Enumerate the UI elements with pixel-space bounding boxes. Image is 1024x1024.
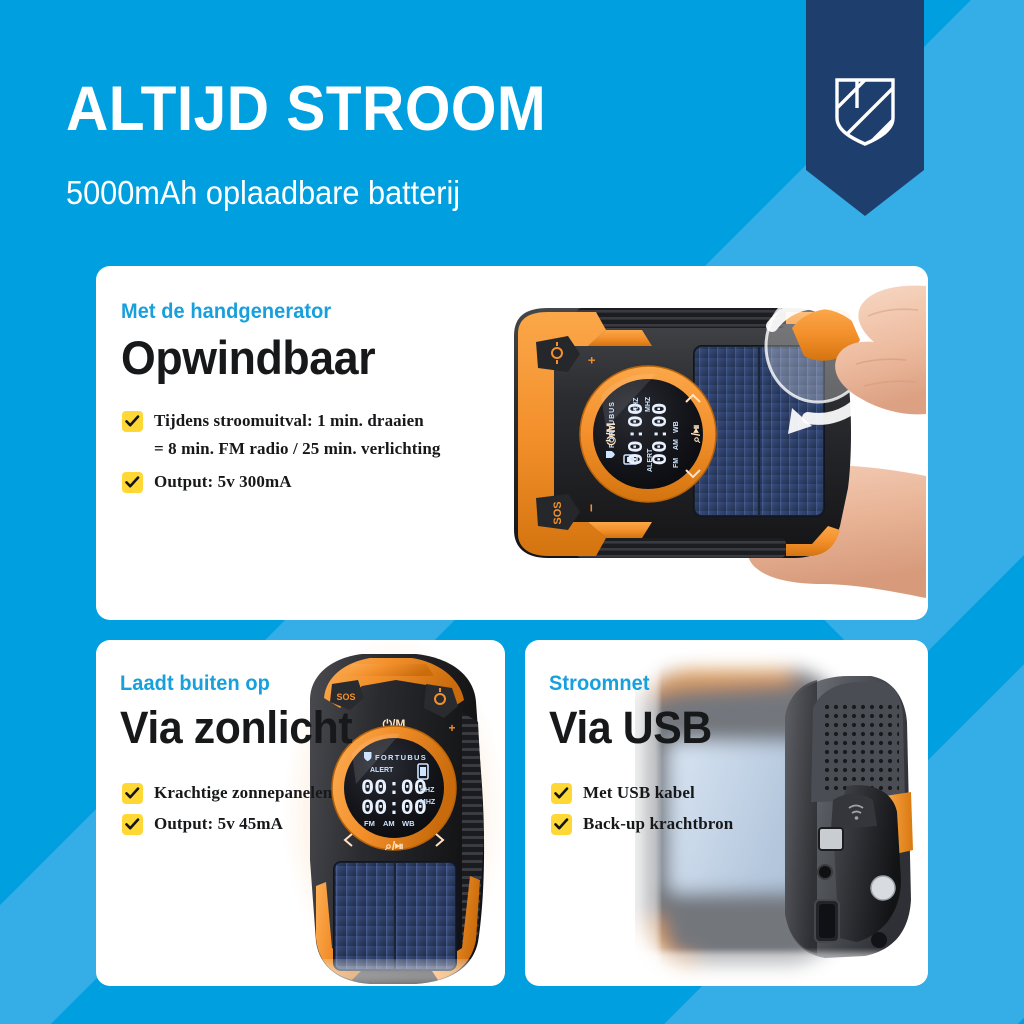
- page-subtitle: 5000mAh oplaadbare batterij: [66, 176, 460, 209]
- lcd-unit-khz: KHZ: [420, 787, 435, 794]
- list-item-label: Krachtige zonnepanelen: [154, 782, 332, 804]
- page-title: ALTIJD STROOM: [66, 78, 546, 141]
- svg-text:−: −: [583, 504, 599, 512]
- lcd-band-wb: WB: [673, 421, 680, 433]
- led-lamp: [871, 876, 895, 900]
- list-item: Tijdens stroomuitval: 1 min. draaien = 8…: [122, 410, 482, 461]
- card-headline: Via USB: [549, 705, 712, 750]
- product-image-crank-radio: SOS + − ⏻/M ⌕/⏯: [456, 268, 926, 620]
- list-item: Output: 5v 300mA: [122, 471, 482, 493]
- list-item: Back-up krachtbron: [551, 813, 831, 835]
- feature-list: Krachtige zonnepanelen Output: 5v 45mA: [122, 782, 422, 845]
- list-item-label: Back-up krachtbron: [583, 813, 733, 835]
- list-item-label: Output: 5v 300mA: [154, 471, 292, 493]
- feature-card-solar[interactable]: Laadt buiten op Via zonlicht Krachtige z…: [96, 640, 505, 986]
- list-item-label: Met USB kabel: [583, 782, 695, 804]
- lcd-alert: ALERT: [370, 767, 394, 774]
- feature-card-usb[interactable]: Stroomnet Via USB Met USB kabel Back-up …: [525, 640, 928, 986]
- checkmark-icon: [551, 814, 572, 835]
- list-item: Met USB kabel: [551, 782, 831, 804]
- card-eyebrow: Laadt buiten op: [120, 673, 270, 694]
- aux-jack: [818, 865, 832, 879]
- checkmark-icon: [551, 783, 572, 804]
- svg-text:FORTUBUS: FORTUBUS: [375, 753, 427, 762]
- lcd-unit-khz: KHZ: [633, 397, 640, 412]
- strap-hole: [871, 932, 887, 948]
- feature-list: Tijdens stroomuitval: 1 min. draaien = 8…: [122, 410, 482, 502]
- svg-text:+: +: [448, 721, 455, 735]
- lcd-band-fm: FM: [673, 458, 680, 468]
- svg-text:SOS: SOS: [336, 692, 355, 702]
- list-item-continuation: = 8 min. FM radio / 25 min. verlichting: [154, 438, 441, 460]
- lcd-unit-mhz: MHZ: [420, 799, 436, 806]
- page-header: ALTIJD STROOM 5000mAh oplaadbare batteri…: [0, 0, 1024, 250]
- feature-card-crank[interactable]: Met de handgenerator Opwindbaar Tijdens …: [96, 266, 928, 620]
- svg-text:+: +: [584, 356, 599, 364]
- checkmark-icon: [122, 783, 143, 804]
- svg-text:SOS: SOS: [552, 501, 564, 524]
- card-headline: Via zonlicht: [120, 705, 352, 750]
- card-headline: Opwindbaar: [121, 334, 375, 381]
- list-item: Output: 5v 45mA: [122, 813, 422, 835]
- lcd-alert: ALERT: [647, 448, 654, 472]
- checkmark-icon: [122, 814, 143, 835]
- list-item-label: Tijdens stroomuitval: 1 min. draaien = 8…: [154, 410, 441, 461]
- checkmark-icon: [122, 411, 143, 432]
- list-item: Krachtige zonnepanelen: [122, 782, 422, 804]
- lcd-unit-mhz: MHZ: [645, 396, 652, 412]
- card-eyebrow: Stroomnet: [549, 673, 650, 694]
- shield-badge-icon: [806, 0, 924, 216]
- checkmark-icon: [122, 472, 143, 493]
- search-play-label: ⌕/⏯: [689, 425, 703, 444]
- lcd-band-am: AM: [673, 439, 680, 450]
- feature-list: Met USB kabel Back-up krachtbron: [551, 782, 831, 845]
- svg-text:FORTUBUS: FORTUBUS: [609, 401, 616, 448]
- list-item-label: Output: 5v 45mA: [154, 813, 283, 835]
- card-eyebrow: Met de handgenerator: [121, 301, 331, 322]
